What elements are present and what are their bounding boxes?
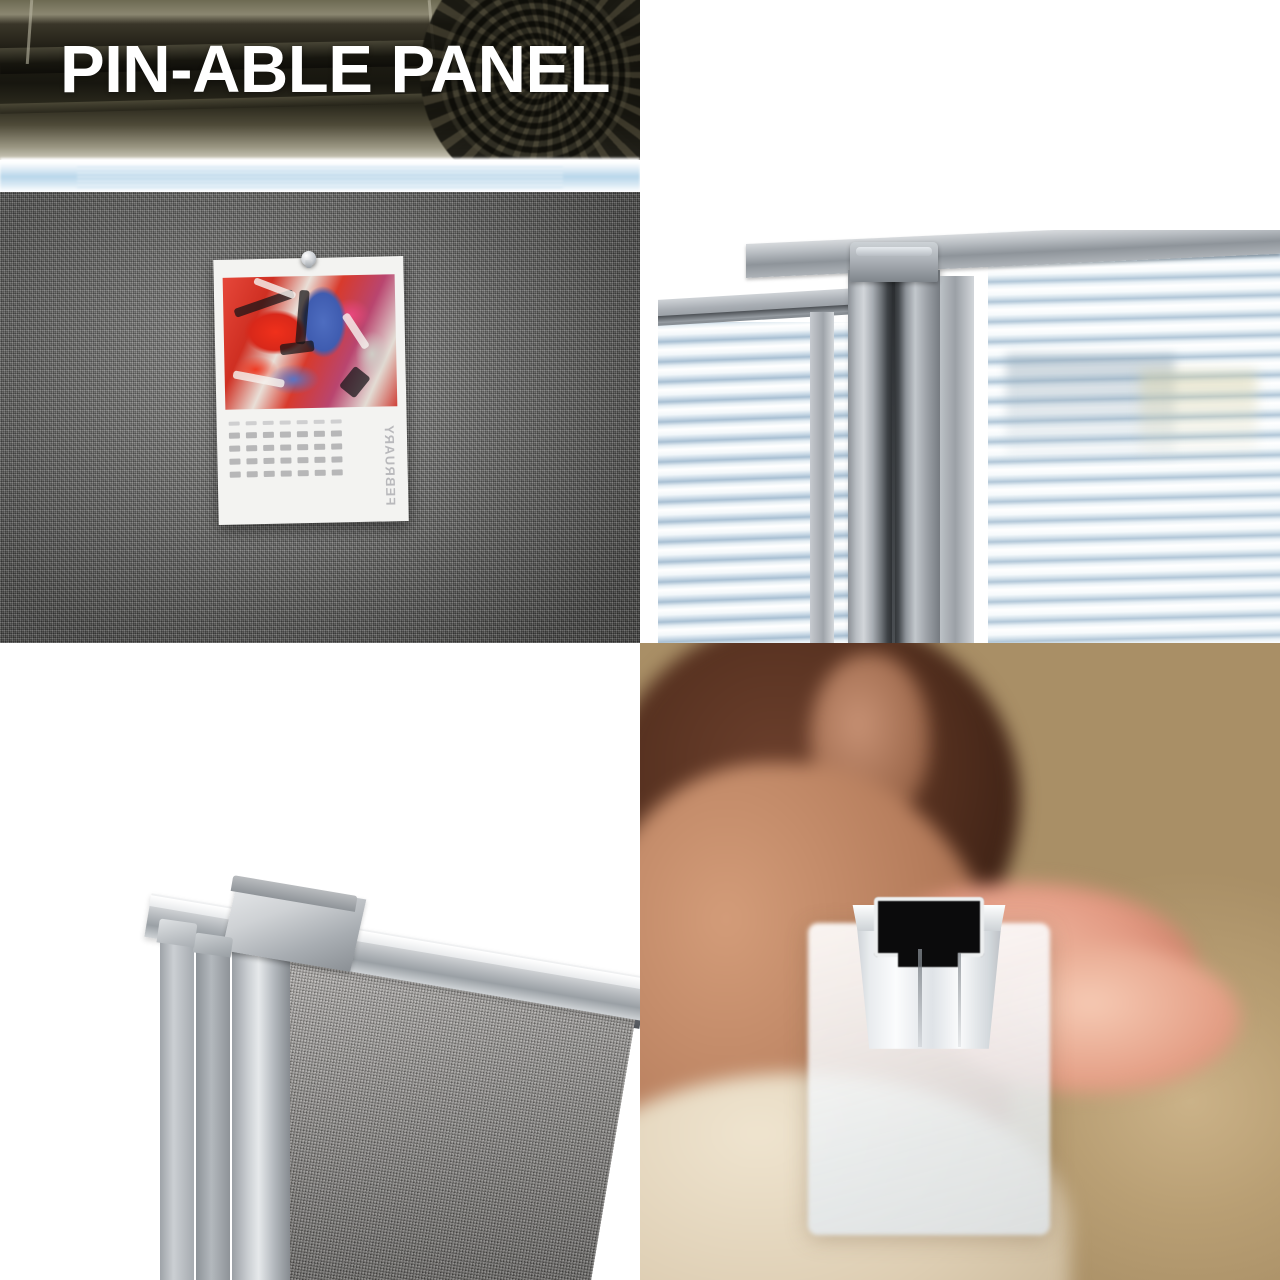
quadrant-toolless-assembly: TOOLLESS ASSEMBLY <box>640 643 1280 1280</box>
partition-post-photo <box>658 230 1280 643</box>
frame-support-leg-inner <box>196 949 230 1280</box>
panel-stile-left <box>810 312 834 643</box>
aluminum-extrusion-profile <box>846 879 1012 1049</box>
feature-collage: FEBRUARY PIN-ABLE PANEL CUSTOMIZABLE CON… <box>0 0 1280 1280</box>
post-seam-icon <box>892 276 895 643</box>
frame-support-leg-outer <box>160 939 194 1280</box>
light-reflection-band <box>0 158 640 194</box>
quadrant-aluminum-frame: LIGHT AIRCRAFT ALUMINUM FRAME <box>0 643 640 1280</box>
frame-leg-cap-outer <box>157 918 198 947</box>
toolless-assembly-photo <box>640 643 1280 1280</box>
window-blinds-right <box>988 230 1280 643</box>
panel-jamb-right <box>940 276 974 643</box>
extrusion-groove-right <box>958 953 961 1047</box>
push-pin-icon <box>301 251 316 266</box>
post-cap-connector <box>850 242 938 282</box>
aluminum-frame-photo <box>0 643 640 1280</box>
quadrant-pin-able-panel: FEBRUARY PIN-ABLE PANEL <box>0 0 640 643</box>
pinned-calendar: FEBRUARY <box>213 256 409 525</box>
calendar-artwork <box>223 274 398 410</box>
headline-pin-able-panel: PIN-ABLE PANEL <box>60 35 610 104</box>
frame-vertical-stile <box>232 927 290 1280</box>
quadrant-customizable-configuration: CUSTOMIZABLE CONFIGURATION <box>640 0 1280 643</box>
calendar-date-grid <box>229 419 349 505</box>
calendar-month-label: FEBRUARY <box>371 416 399 513</box>
extrusion-groove-left <box>918 949 922 1047</box>
extrusion-channel-slot <box>874 897 984 957</box>
